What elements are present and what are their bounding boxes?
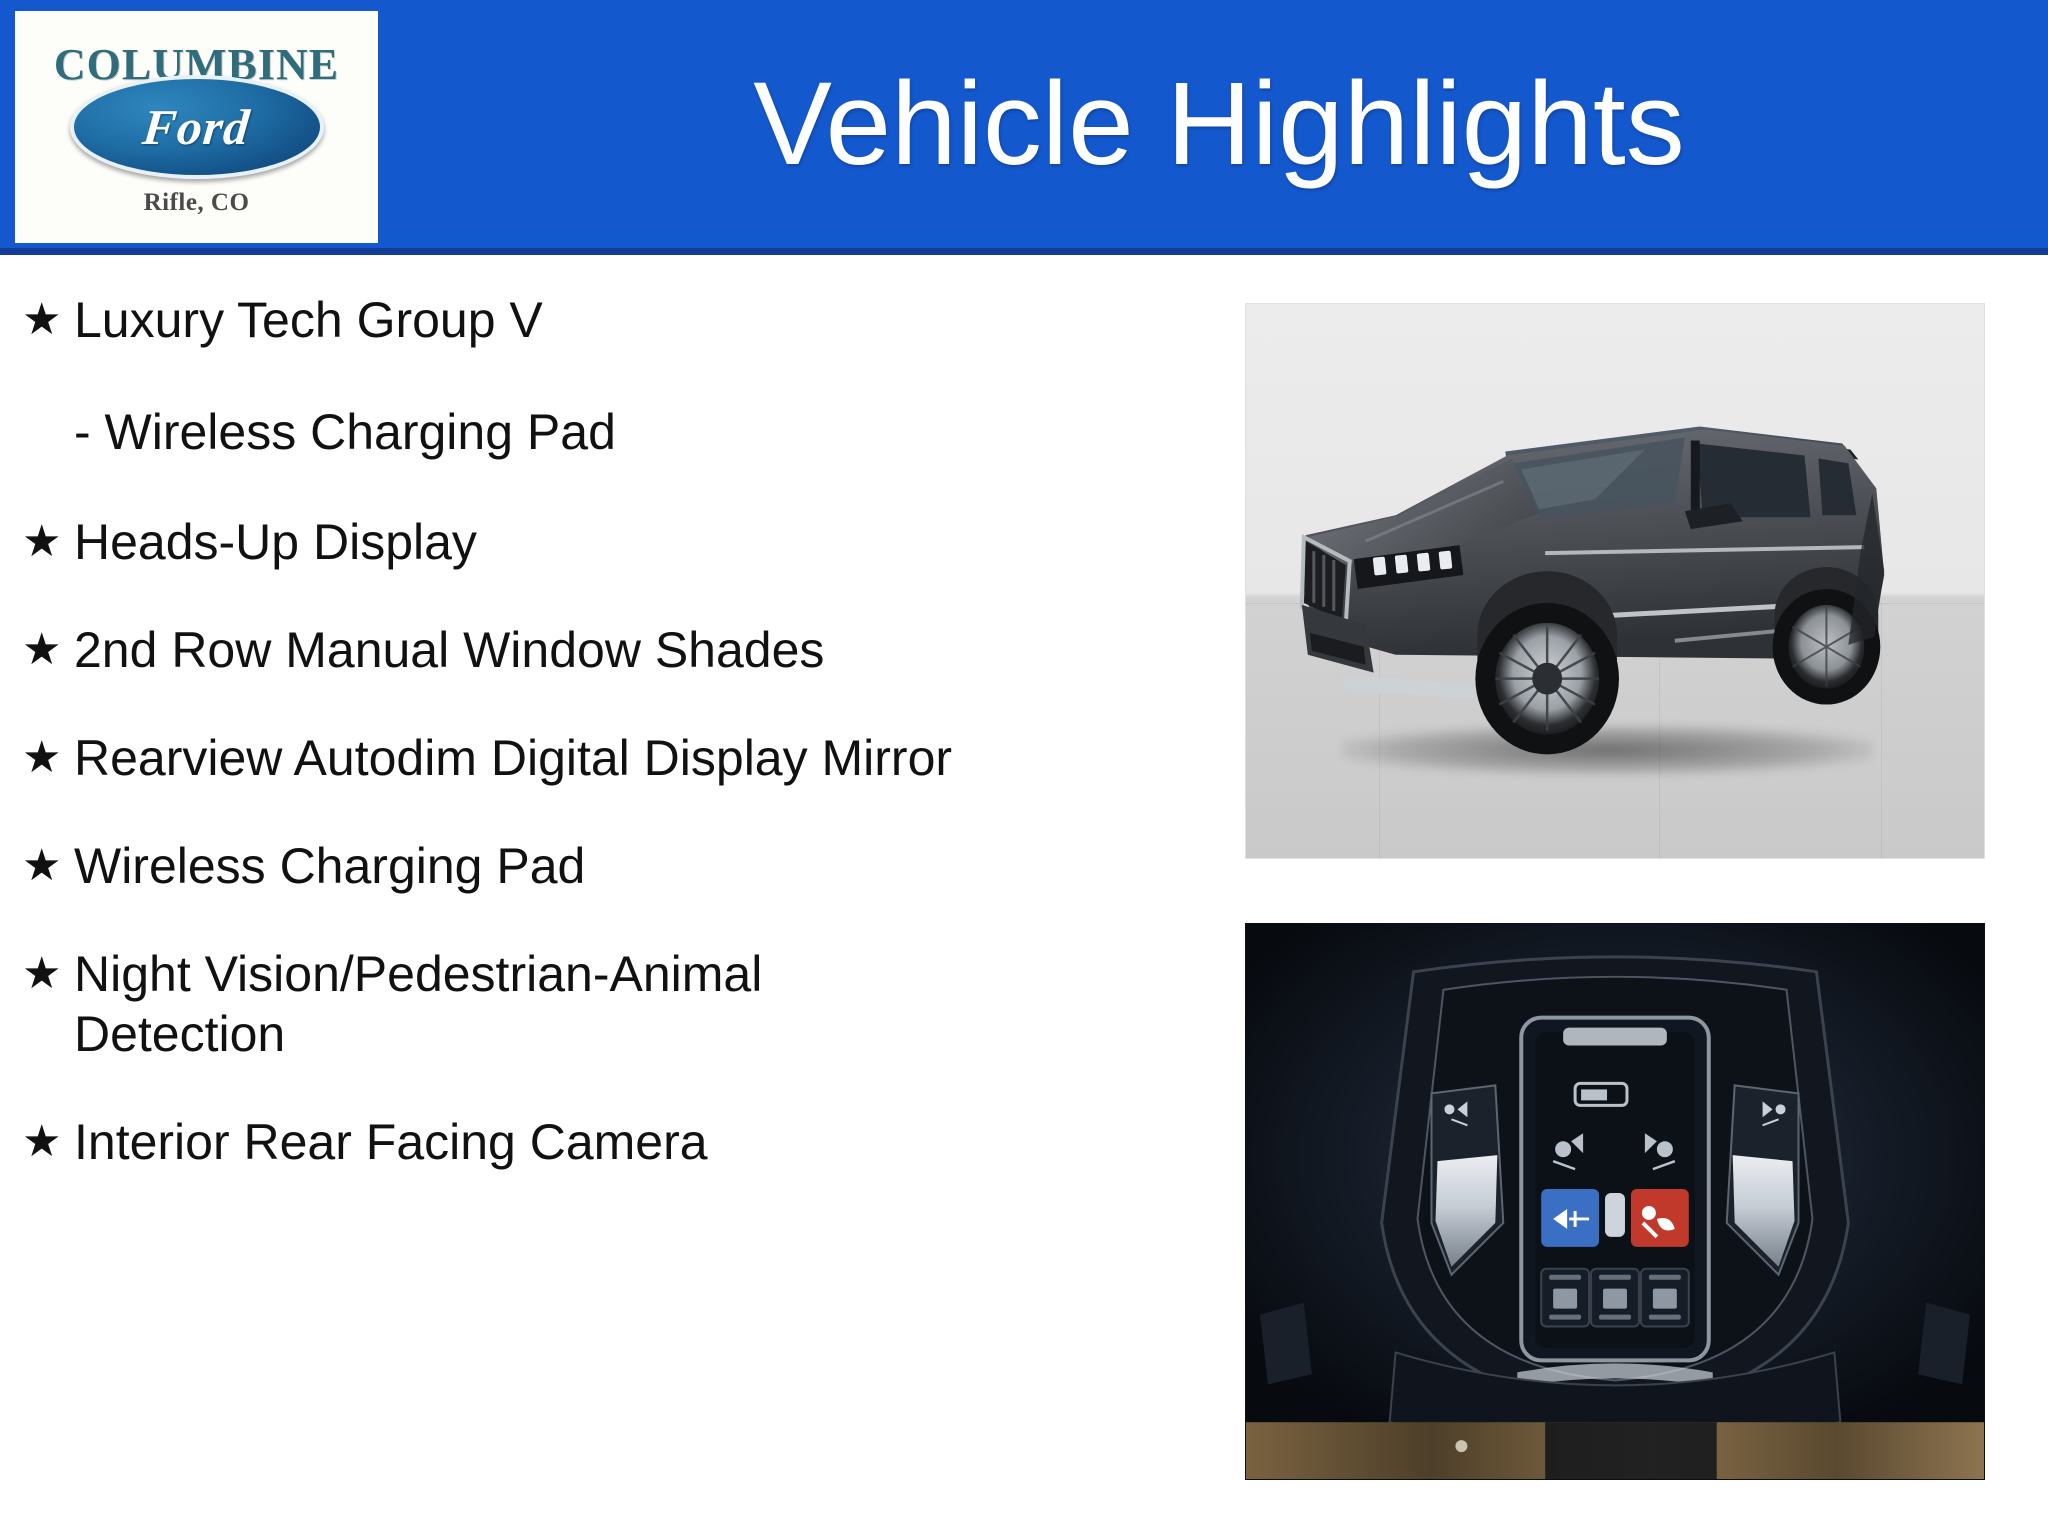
list-item: - Wireless Charging Pad: [22, 402, 1212, 462]
sos-button: [1631, 1189, 1689, 1247]
list-item: ★ 2nd Row Manual Window Shades: [22, 620, 1212, 680]
star-icon: ★: [22, 512, 74, 572]
list-item-label: Heads-Up Display: [74, 512, 1212, 572]
list-item: ★ Interior Rear Facing Camera: [22, 1112, 1212, 1172]
star-icon: ★: [22, 290, 74, 350]
list-item: ★ Luxury Tech Group V: [22, 290, 1212, 350]
dome-light-button: [1605, 1193, 1625, 1237]
list-item-label: Interior Rear Facing Camera: [74, 1112, 1212, 1172]
list-item: ★ Rearview Autodim Digital Display Mirro…: [22, 728, 1022, 788]
list-item: ★ Wireless Charging Pad: [22, 836, 1212, 896]
overhead-console-photo: [1245, 923, 1985, 1480]
sunroof-switch: [1563, 1028, 1667, 1046]
vehicle-exterior-photo: [1245, 303, 1985, 859]
right-grab-handle: [1918, 1303, 1970, 1385]
vehicle-highlights-list: ★ Luxury Tech Group V - Wireless Chargin…: [22, 290, 1212, 1172]
list-item-label: Wireless Charging Pad: [74, 836, 1212, 896]
logo-oval-word: Ford: [140, 98, 253, 156]
ford-oval-logo: Ford: [70, 75, 324, 179]
list-item-label: 2nd Row Manual Window Shades: [74, 620, 1212, 680]
homelink-buttons: [1541, 1269, 1689, 1327]
overhead-console-illustration: [1246, 924, 1984, 1479]
dealer-logo: COLUMBINE Ford Rifle, CO: [15, 11, 378, 243]
star-icon: ★: [22, 620, 74, 680]
list-item: ★ Heads-Up Display: [22, 512, 1212, 572]
suv-illustration: [1246, 304, 1984, 858]
logo-city-label: Rifle, CO: [144, 189, 250, 217]
page-title: Vehicle Highlights: [390, 0, 2048, 248]
star-icon: ★: [22, 1112, 74, 1172]
left-grab-handle: [1260, 1303, 1312, 1385]
list-item-label: Night Vision/Pedestrian-Animal Detection: [74, 944, 964, 1064]
list-item-label: Luxury Tech Group V: [74, 290, 1212, 350]
star-icon: ★: [22, 944, 74, 1004]
header-bar: COLUMBINE Ford Rifle, CO Vehicle Highlig…: [0, 0, 2048, 255]
star-icon: ★: [22, 836, 74, 896]
list-item-label: Rearview Autodim Digital Display Mirror: [74, 728, 1014, 788]
list-item: ★ Night Vision/Pedestrian-Animal Detecti…: [22, 944, 1022, 1064]
star-icon: ★: [22, 728, 74, 788]
list-item-label: - Wireless Charging Pad: [74, 402, 1212, 462]
chrome-valance: [1342, 675, 1476, 699]
studio-backdrop: [1246, 304, 1984, 858]
